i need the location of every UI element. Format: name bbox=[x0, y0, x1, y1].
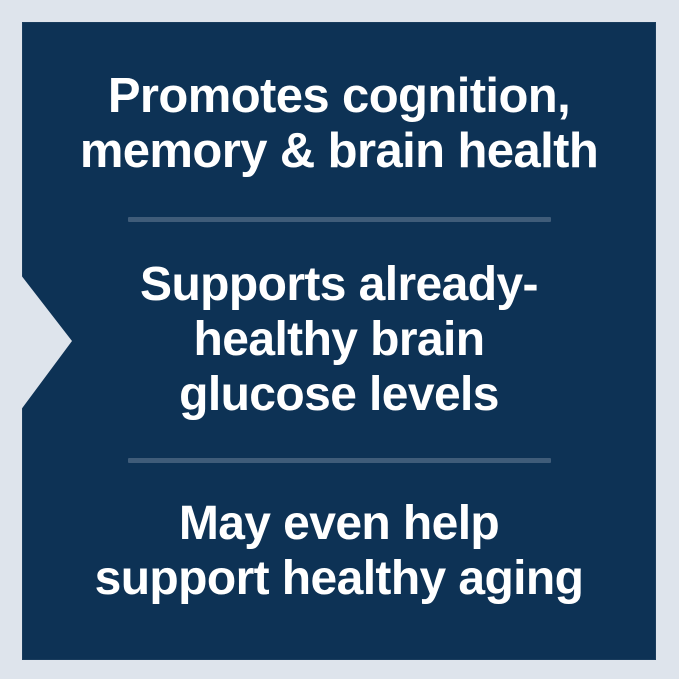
benefit-line: Supports already- bbox=[62, 258, 616, 313]
benefit-item-cognition: Promotes cognition, memory & brain healt… bbox=[62, 69, 616, 179]
benefit-item-aging: May even help support healthy aging bbox=[62, 497, 616, 606]
benefit-line: support healthy aging bbox=[62, 552, 616, 607]
benefits-card-stage: Promotes cognition, memory & brain healt… bbox=[0, 0, 679, 679]
benefits-panel: Promotes cognition, memory & brain healt… bbox=[22, 22, 656, 660]
benefit-line: May even help bbox=[62, 497, 616, 552]
benefit-line: glucose levels bbox=[62, 368, 616, 423]
benefits-list: Promotes cognition, memory & brain healt… bbox=[22, 22, 656, 660]
divider-bottom bbox=[128, 458, 551, 463]
benefit-line: Promotes cognition, bbox=[62, 69, 616, 124]
divider-top bbox=[128, 217, 551, 222]
benefit-line: healthy brain bbox=[62, 313, 616, 368]
benefit-line: memory & brain health bbox=[62, 124, 616, 179]
benefit-item-glucose: Supports already- healthy brain glucose … bbox=[62, 258, 616, 422]
